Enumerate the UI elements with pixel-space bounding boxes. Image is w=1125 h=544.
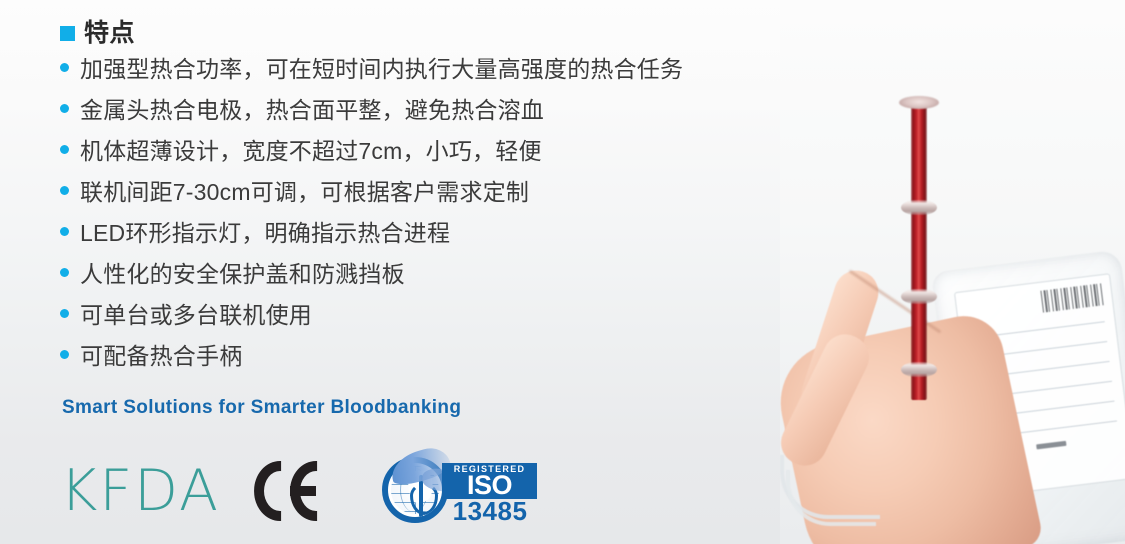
blood-tubing [911, 100, 927, 400]
feature-item: 金属头热合电极，热合面平整，避免热合溶血 [60, 99, 840, 140]
feature-text: 机体超薄设计，宽度不超过7cm，小巧，轻便 [80, 140, 542, 163]
section-heading: 特点 [60, 21, 135, 46]
tagline: Smart Solutions for Smarter Bloodbanking [62, 397, 461, 419]
tube-seal [901, 200, 937, 215]
bullet-dot-icon [60, 350, 69, 359]
feature-text: LED环形指示灯，明确指示热合进程 [80, 222, 450, 245]
certification-logos: KFDA REGISTERED ISO 1348 [60, 455, 537, 527]
bullet-dot-icon [60, 63, 69, 72]
feature-text: 联机间距7-30cm可调，可根据客户需求定制 [80, 181, 529, 204]
tube-seal [901, 362, 937, 377]
feature-item: LED环形指示灯，明确指示热合进程 [60, 222, 840, 263]
feature-item: 可配备热合手柄 [60, 345, 840, 386]
feature-text: 人性化的安全保护盖和防溅挡板 [80, 263, 405, 286]
feature-item: 可单台或多台联机使用 [60, 304, 840, 345]
iso-plate: REGISTERED ISO [442, 463, 537, 499]
iso-standard-number: 13485 [440, 498, 540, 524]
barcode-icon [1040, 283, 1104, 312]
kfda-logo: KFDA [60, 463, 220, 520]
bullet-dot-icon [60, 309, 69, 318]
feature-item: 联机间距7-30cm可调，可根据客户需求定制 [60, 181, 840, 222]
square-bullet-icon [60, 26, 75, 41]
feature-item: 加强型热合功率，可在短时间内执行大量高强度的热合任务 [60, 58, 840, 99]
ce-e-crossbar [290, 486, 316, 496]
bullet-dot-icon [60, 227, 69, 236]
bullet-dot-icon [60, 268, 69, 277]
iso-word-label: ISO [442, 472, 537, 499]
bullet-dot-icon [60, 186, 69, 195]
content-column: 特点 加强型热合功率，可在短时间内执行大量高强度的热合任务 金属头热合电极，热合… [0, 0, 840, 544]
feature-text: 可配备热合手柄 [80, 345, 242, 368]
section-heading-text: 特点 [84, 21, 135, 46]
feature-item: 人性化的安全保护盖和防溅挡板 [60, 263, 840, 304]
feature-list: 加强型热合功率，可在短时间内执行大量高强度的热合任务 金属头热合电极，热合面平整… [60, 58, 840, 386]
tubing-flare [899, 96, 939, 109]
feature-text: 金属头热合电极，热合面平整，避免热合溶血 [80, 99, 544, 122]
iso-13485-logo: REGISTERED ISO 13485 [382, 455, 537, 527]
product-feature-panel: 特点 加强型热合功率，可在短时间内执行大量高强度的热合任务 金属头热合电极，热合… [0, 0, 1125, 544]
feature-text: 可单台或多台联机使用 [80, 304, 312, 327]
feature-item: 机体超薄设计，宽度不超过7cm，小巧，轻便 [60, 140, 840, 181]
ce-mark-logo [254, 461, 342, 521]
feature-text: 加强型热合功率，可在短时间内执行大量高强度的热合任务 [80, 58, 683, 81]
bullet-dot-icon [60, 145, 69, 154]
tube-seal [901, 289, 937, 304]
bullet-dot-icon [60, 104, 69, 113]
